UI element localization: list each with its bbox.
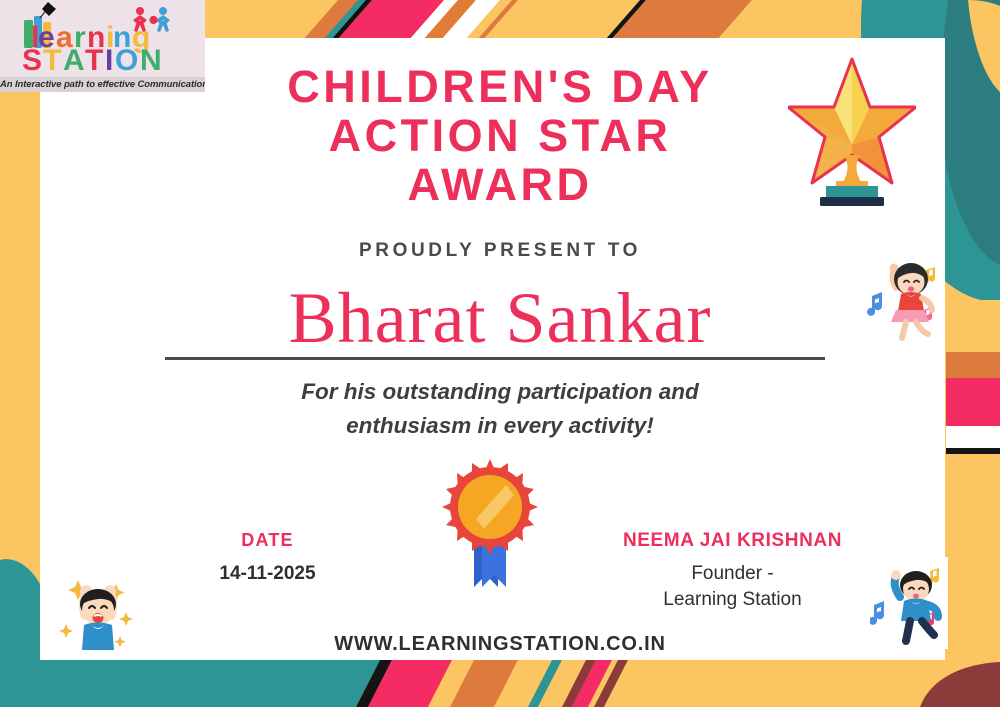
learning-station-logo: l e a r n i n g S T A T I O N An Interac… xyxy=(0,0,205,92)
logo-artwork: l e a r n i n g S T A T I O N xyxy=(0,0,205,80)
founder-role-line-1: Founder - xyxy=(590,561,875,587)
svg-text:T: T xyxy=(43,44,61,77)
award-rosette-icon xyxy=(440,457,540,597)
svg-text:T: T xyxy=(85,44,103,77)
citation-line-2: enthusiasm in every activity! xyxy=(180,409,820,443)
recipient-name: Bharat Sankar xyxy=(0,279,1000,357)
logo-tagline: An Interactive path to effective Communi… xyxy=(0,77,205,92)
date-block: DATE 14-11-2025 xyxy=(160,530,375,585)
present-to-label: PROUDLY PRESENT TO xyxy=(0,240,1000,262)
star-trophy-icon xyxy=(788,55,916,207)
dancing-girl-illustration xyxy=(866,252,944,344)
cheering-boy-illustration xyxy=(58,558,136,650)
website-url: WWW.LEARNINGSTATION.CO.IN xyxy=(0,633,1000,656)
bottom-stripes xyxy=(0,660,1000,707)
citation-line-1: For his outstanding participation and xyxy=(180,375,820,409)
signature-rule xyxy=(165,357,825,360)
svg-text:A: A xyxy=(63,44,85,77)
svg-text:S: S xyxy=(22,44,42,77)
svg-text:O: O xyxy=(115,44,138,77)
svg-text:N: N xyxy=(140,44,162,77)
founder-name: NEEMA JAI KRISHNAN xyxy=(590,530,875,552)
certificate-canvas: l e a r n i n g S T A T I O N An Interac… xyxy=(0,0,1000,707)
founder-role: Founder - Learning Station xyxy=(590,561,875,613)
date-value: 14-11-2025 xyxy=(160,563,375,585)
founder-role-line-2: Learning Station xyxy=(590,587,875,613)
dancing-boy-illustration xyxy=(870,557,948,649)
date-label: DATE xyxy=(160,530,375,551)
citation-text: For his outstanding participation and en… xyxy=(180,375,820,443)
founder-block: NEEMA JAI KRISHNAN Founder - Learning St… xyxy=(590,530,875,613)
svg-text:I: I xyxy=(105,44,113,77)
